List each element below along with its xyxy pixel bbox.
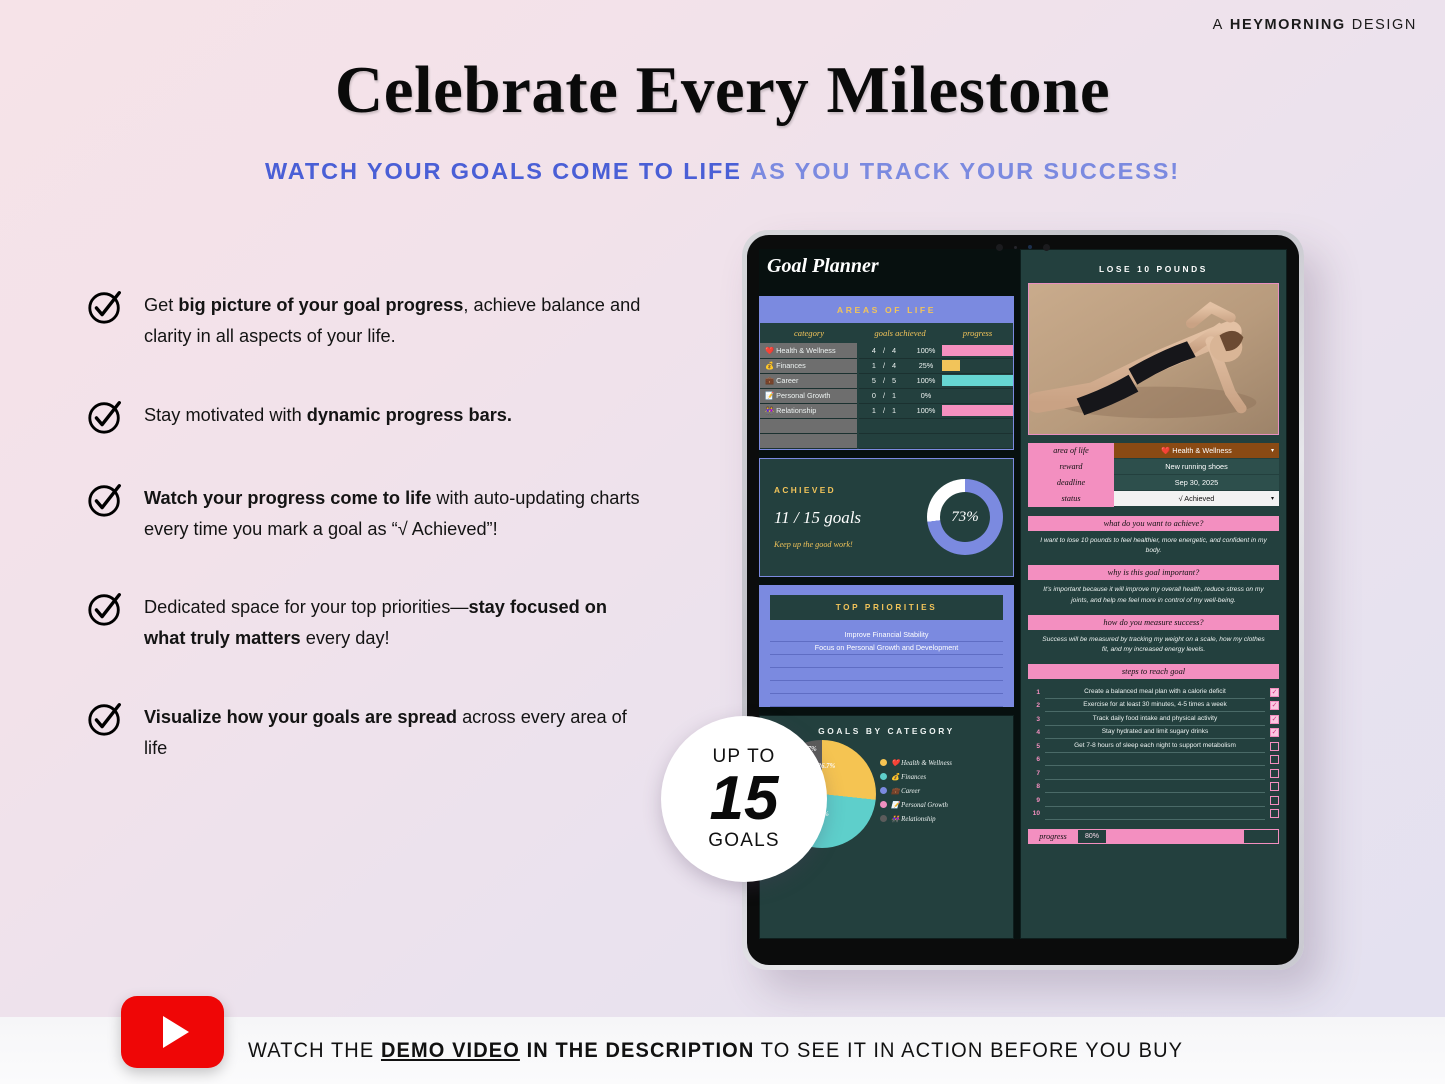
step-row: 10 (1028, 807, 1279, 821)
tablet-device: Goal Planner AREAS OF LIFE category goal… (742, 230, 1304, 970)
cell-category: ❤️ Health & Wellness (760, 343, 858, 358)
camera-lens-2-icon (1043, 244, 1050, 251)
feature-item: Stay motivated with dynamic progress bar… (86, 396, 646, 436)
steps-list: 1 Create a balanced meal plan with a cal… (1028, 685, 1279, 820)
step-row: 6 (1028, 753, 1279, 767)
badge-goals-label: GOALS (708, 830, 779, 852)
chevron-down-icon[interactable]: ▾ (1271, 443, 1274, 459)
tablet-camera-row (747, 242, 1299, 252)
camera-lens-icon (996, 244, 1003, 251)
feature-item: Dedicated space for your top priorities—… (86, 588, 646, 655)
cell-progress-bar (942, 358, 1013, 373)
step-row: 5 Get 7-8 hours of sleep each night to s… (1028, 739, 1279, 753)
goal-photo (1028, 283, 1279, 435)
cell-progress-bar (942, 373, 1013, 388)
legend-item: ❤️ Health & Wellness (880, 759, 1005, 767)
question-answer[interactable]: Success will be measured by tracking my … (1028, 630, 1279, 655)
field-value[interactable]: √ Achieved▾ (1114, 491, 1279, 507)
goal-questions: what do you want to achieve? I want to l… (1028, 516, 1279, 655)
cell-category: 👭 Relationship (760, 403, 858, 418)
table-row: 📝 Personal Growth 0 / 1 0% (760, 388, 1013, 403)
step-number: 6 (1028, 756, 1040, 763)
footer-text: WATCH THE DEMO VIDEO IN THE DESCRIPTION … (248, 1038, 1183, 1063)
donut-percent-label: 73% (940, 492, 990, 542)
sensor-dot-icon (1014, 246, 1017, 249)
goal-progress-bar: progress 80% (1028, 829, 1279, 844)
top-priorities-header: TOP PRIORITIES (770, 595, 1003, 620)
tablet-screen: Goal Planner AREAS OF LIFE category goal… (759, 249, 1287, 939)
step-text[interactable]: Exercise for at least 30 minutes, 4-5 ti… (1045, 699, 1265, 712)
brand-prefix: A (1213, 17, 1224, 33)
areas-of-life-table: category goals achieved progress ❤️ Heal… (760, 323, 1013, 449)
achieved-text-block: ACHIEVED 11 / 15 goals Keep up the good … (774, 485, 921, 549)
footer-post: TO SEE IT IN ACTION BEFORE YOU BUY (754, 1038, 1183, 1062)
cell-percent: 100% (910, 343, 942, 358)
check-circle-icon (86, 590, 124, 628)
achieved-note: Keep up the good work! (774, 540, 921, 549)
col-category: category (760, 323, 858, 343)
legend-item: 👭 Relationship (880, 815, 1005, 823)
achieved-donut-chart: 73% (927, 479, 1003, 555)
step-checkbox[interactable]: ✓ (1270, 715, 1279, 724)
achieved-label: ACHIEVED (774, 485, 921, 495)
step-text[interactable] (1045, 794, 1265, 807)
field-value[interactable]: Sep 30, 2025 (1114, 475, 1279, 491)
areas-of-life-header: AREAS OF LIFE (760, 297, 1013, 323)
step-checkbox[interactable]: ✓ (1270, 701, 1279, 710)
brand-credit: A HEYMORNING DESIGN (1213, 17, 1417, 33)
badge-number: 15 (710, 770, 779, 829)
priority-item[interactable] (770, 681, 1003, 694)
chevron-down-icon[interactable]: ▾ (1271, 491, 1274, 507)
feature-item: Watch your progress come to life with au… (86, 479, 646, 546)
step-text[interactable] (1045, 807, 1265, 820)
feature-list: Get big picture of your goal progress, a… (86, 286, 646, 764)
cell-percent: 0% (910, 388, 942, 403)
priority-item[interactable] (770, 655, 1003, 668)
step-row: 3 Track daily food intake and physical a… (1028, 712, 1279, 726)
cell-percent: 100% (910, 373, 942, 388)
feature-item: Get big picture of your goal progress, a… (86, 286, 646, 353)
cell-progress-bar (942, 343, 1013, 358)
step-row: 9 (1028, 793, 1279, 807)
cell-category: 💼 Career (760, 373, 858, 388)
step-checkbox[interactable] (1270, 755, 1279, 764)
goal-field-labels: area of liferewarddeadlinestatus (1028, 443, 1114, 507)
step-number: 2 (1028, 702, 1040, 709)
goal-progress-track (1107, 830, 1278, 843)
up-to-goals-badge: UP TO 15 GOALS (661, 716, 827, 882)
step-number: 9 (1028, 797, 1040, 804)
step-number: 10 (1028, 810, 1040, 817)
top-priorities-list: Improve Financial StabilityFocus on Pers… (770, 629, 1003, 707)
pie-chart-legend: ❤️ Health & Wellness💰 Finances💼 Career📝 … (880, 759, 1005, 829)
goal-field-values[interactable]: ❤️ Health & Wellness▾New running shoesSe… (1114, 443, 1279, 507)
priority-item[interactable]: Improve Financial Stability (770, 629, 1003, 642)
subtitle-light: AS YOU TRACK YOUR SUCCESS! (750, 158, 1180, 184)
feature-text: Watch your progress come to life with au… (144, 479, 646, 546)
feature-text: Dedicated space for your top priorities—… (144, 588, 646, 655)
play-icon (163, 1016, 189, 1048)
question-answer[interactable]: I want to lose 10 pounds to feel healthi… (1028, 531, 1279, 556)
question-header: how do you measure success? (1028, 615, 1279, 630)
step-checkbox[interactable]: ✓ (1270, 728, 1279, 737)
step-text[interactable] (1045, 767, 1265, 780)
step-text[interactable]: Stay hydrated and limit sugary drinks (1045, 726, 1265, 739)
goal-progress-fill (1107, 830, 1244, 843)
field-label: status (1028, 491, 1114, 507)
step-row: 8 (1028, 780, 1279, 794)
steps-header: steps to reach goal (1028, 664, 1279, 679)
feature-text: Get big picture of your goal progress, a… (144, 286, 646, 353)
step-row: 7 (1028, 766, 1279, 780)
priority-item[interactable] (770, 694, 1003, 707)
tablet-bezel: Goal Planner AREAS OF LIFE category goal… (747, 235, 1299, 965)
step-text[interactable] (1045, 780, 1265, 793)
step-number: 3 (1028, 716, 1040, 723)
priority-item[interactable]: Focus on Personal Growth and Development (770, 642, 1003, 655)
feature-text: Visualize how your goals are spread acro… (144, 698, 646, 765)
cell-progress-bar (942, 403, 1013, 418)
footer-mid: IN THE DESCRIPTION (520, 1038, 755, 1062)
cell-achieved: 5 / 5 (858, 373, 910, 388)
step-number: 1 (1028, 689, 1040, 696)
footer-demo-video-link[interactable]: DEMO VIDEO (381, 1038, 520, 1062)
table-row: ❤️ Health & Wellness 4 / 4 100% (760, 343, 1013, 358)
step-checkbox[interactable] (1270, 782, 1279, 791)
cell-category: 📝 Personal Growth (760, 388, 858, 403)
field-label: deadline (1028, 475, 1114, 491)
step-text[interactable]: Get 7-8 hours of sleep each night to sup… (1045, 740, 1265, 753)
page-title: Celebrate Every Milestone (0, 57, 1445, 124)
cell-progress-bar (942, 388, 1013, 403)
step-checkbox[interactable] (1270, 796, 1279, 805)
areas-of-life-rows: ❤️ Health & Wellness 4 / 4 100% 💰 Financ… (760, 343, 1013, 448)
question-header: what do you want to achieve? (1028, 516, 1279, 531)
table-row-empty (760, 418, 1013, 433)
step-row: 2 Exercise for at least 30 minutes, 4-5 … (1028, 699, 1279, 713)
step-number: 7 (1028, 770, 1040, 777)
check-circle-icon (86, 481, 124, 519)
legend-item: 💼 Career (880, 787, 1005, 795)
cell-achieved: 1 / 4 (858, 358, 910, 373)
feature-text: Stay motivated with dynamic progress bar… (144, 396, 512, 431)
table-row-empty (760, 433, 1013, 448)
cell-achieved: 0 / 1 (858, 388, 910, 403)
step-number: 4 (1028, 729, 1040, 736)
step-checkbox[interactable]: ✓ (1270, 688, 1279, 697)
check-circle-icon (86, 398, 124, 436)
achieved-card: ACHIEVED 11 / 15 goals Keep up the good … (759, 458, 1014, 577)
step-checkbox[interactable] (1270, 769, 1279, 778)
app-title: Goal Planner (759, 249, 1014, 288)
field-value[interactable]: ❤️ Health & Wellness▾ (1114, 443, 1279, 459)
goal-progress-label: progress (1029, 830, 1077, 843)
step-text[interactable]: Track daily food intake and physical act… (1045, 713, 1265, 726)
pie-chart-title: GOALS BY CATEGORY (768, 726, 1005, 736)
subtitle-strong: WATCH YOUR GOALS COME TO LIFE (265, 158, 742, 184)
areas-of-life-column-headers: category goals achieved progress (760, 323, 1013, 343)
table-row: 👭 Relationship 1 / 1 100% (760, 403, 1013, 418)
feature-item: Visualize how your goals are spread acro… (86, 698, 646, 765)
step-row: 1 Create a balanced meal plan with a cal… (1028, 685, 1279, 699)
legend-item: 📝 Personal Growth (880, 801, 1005, 809)
step-checkbox[interactable] (1270, 809, 1279, 818)
field-value[interactable]: New running shoes (1114, 459, 1279, 475)
cell-category: 💰 Finances (760, 358, 858, 373)
goal-detail-title: LOSE 10 POUNDS (1028, 258, 1279, 283)
cell-percent: 25% (910, 358, 942, 373)
goal-progress-value: 80% (1077, 830, 1107, 843)
cell-achieved: 4 / 4 (858, 343, 910, 358)
areas-of-life-card: AREAS OF LIFE category goals achieved pr… (759, 296, 1014, 450)
question-answer[interactable]: It's important because it will improve m… (1028, 580, 1279, 605)
step-checkbox[interactable] (1270, 742, 1279, 751)
step-number: 5 (1028, 743, 1040, 750)
app-title-text: Goal Planner (767, 255, 879, 277)
step-text[interactable]: Create a balanced meal plan with a calor… (1045, 686, 1265, 699)
cell-percent: 100% (910, 403, 942, 418)
brand-name: HEYMORNING (1230, 17, 1346, 33)
table-row: 💼 Career 5 / 5 100% (760, 373, 1013, 388)
step-row: 4 Stay hydrated and limit sugary drinks … (1028, 726, 1279, 740)
cell-achieved: 1 / 1 (858, 403, 910, 418)
field-label: area of life (1028, 443, 1114, 459)
goal-detail-fields: area of liferewarddeadlinestatus ❤️ Heal… (1028, 443, 1279, 507)
goal-detail-column: LOSE 10 POUNDS (1020, 249, 1287, 939)
field-label: reward (1028, 459, 1114, 475)
check-circle-icon (86, 700, 124, 738)
col-progress: progress (942, 323, 1013, 343)
sensor-blue-icon (1028, 245, 1032, 249)
footer-pre: WATCH THE (248, 1038, 381, 1062)
page-subtitle: WATCH YOUR GOALS COME TO LIFE AS YOU TRA… (0, 158, 1445, 185)
check-circle-icon (86, 288, 124, 326)
brand-suffix: DESIGN (1352, 17, 1417, 33)
youtube-play-button[interactable] (121, 996, 224, 1068)
col-goals-achieved: goals achieved (858, 323, 942, 343)
legend-item: 💰 Finances (880, 773, 1005, 781)
step-number: 8 (1028, 783, 1040, 790)
achieved-goals-count: 11 / 15 goals (774, 508, 921, 528)
top-priorities-card: TOP PRIORITIES Improve Financial Stabili… (759, 585, 1014, 707)
question-header: why is this goal important? (1028, 565, 1279, 580)
priority-item[interactable] (770, 668, 1003, 681)
table-row: 💰 Finances 1 / 4 25% (760, 358, 1013, 373)
side-plank-illustration (1029, 284, 1278, 434)
step-text[interactable] (1045, 753, 1265, 766)
